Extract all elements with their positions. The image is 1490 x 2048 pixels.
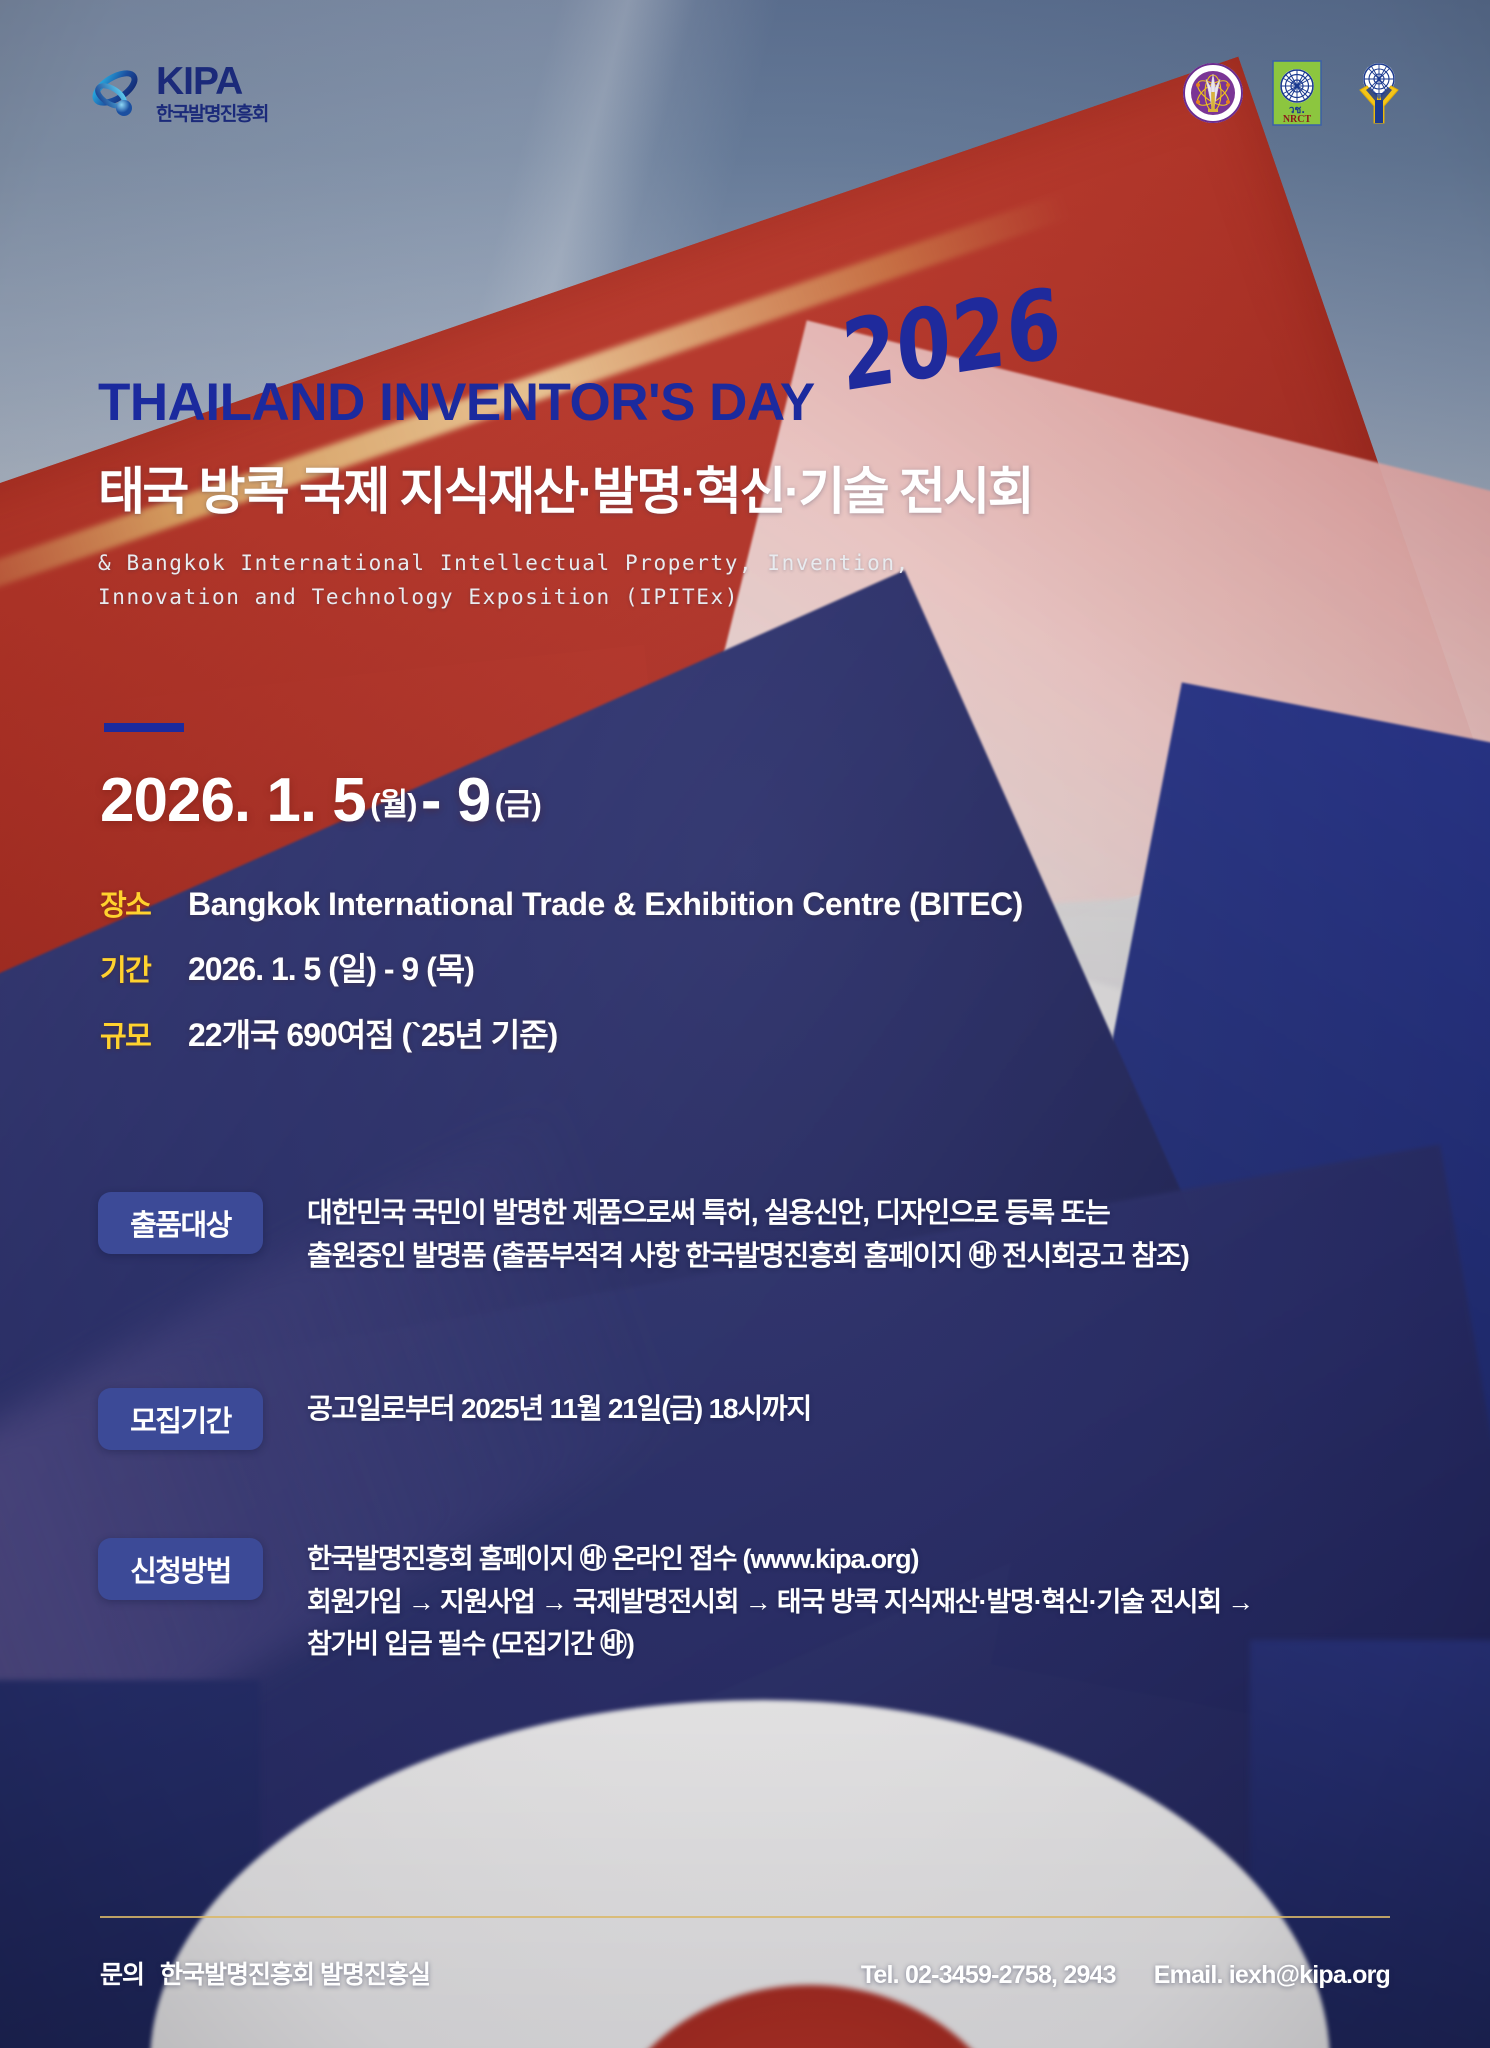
section-line: 출원중인 발명품 (출품부적격 사항 한국발명진흥회 홈페이지 ㉳ 전시회공고 …: [307, 1235, 1189, 1278]
footer-telephone: Tel. 02-3459-2758, 2943: [861, 1961, 1116, 1990]
main-title-english: THAILAND INVENTOR'S DAY: [98, 372, 815, 433]
section-line: 한국발명진흥회 홈페이지 ㉳ 온라인 접수 (www.kipa.org): [307, 1538, 1253, 1581]
ministry-of-higher-education-science-research-innovation-icon: [1182, 62, 1244, 129]
info-value-venue: Bangkok International Trade & Exhibition…: [188, 886, 1023, 923]
footer-contact: 문의 한국발명진흥회 발명진흥실 Tel. 02-3459-2758, 2943…: [100, 1955, 1390, 1991]
footer-organization: 한국발명진흥회 발명진흥실: [160, 1955, 430, 1991]
date-weekday-end: (금): [495, 787, 541, 822]
footer-email: Email. iexh@kipa.org: [1154, 1961, 1390, 1990]
main-title-year: 2026: [839, 266, 1065, 413]
date-range-end: - 9: [421, 766, 490, 835]
subtitle-english: & Bangkok International Intellectual Pro…: [98, 546, 1398, 614]
section-badge-application-period: 모집기간: [98, 1388, 263, 1450]
kipa-logo: KIPA 한국발명진흥회: [84, 62, 268, 124]
thailand-inventors-day-emblem-icon: [1350, 60, 1408, 131]
main-title-korean: 태국 방콕 국제 지식재산·발명·혁신·기술 전시회: [98, 450, 1398, 524]
footer-divider: [100, 1916, 1390, 1918]
kipa-korean-name: 한국발명진흥회: [156, 105, 268, 124]
subtitle-line-1: & Bangkok International Intellectual Pro…: [98, 546, 1398, 580]
section-line: 대한민국 국민이 발명한 제품으로써 특허, 실용신안, 디자인으로 등록 또는: [307, 1192, 1189, 1235]
kipa-wordmark: KIPA: [156, 62, 268, 101]
info-label-scale: 규모: [100, 1013, 188, 1055]
info-row-venue: 장소 Bangkok International Trade & Exhibit…: [100, 882, 1023, 924]
info-row-scale: 규모 22개국 690여점 (`25년 기준): [100, 1010, 1023, 1056]
info-label-venue: 장소: [100, 882, 188, 924]
section-body-eligibility: 대한민국 국민이 발명한 제품으로써 특허, 실용신안, 디자인으로 등록 또는…: [307, 1192, 1189, 1277]
accent-dash-divider: [104, 723, 184, 732]
nrct-logo-icon: วช. NRCT: [1272, 60, 1322, 131]
section-body-how-to-apply: 한국발명진흥회 홈페이지 ㉳ 온라인 접수 (www.kipa.org) 회원가…: [307, 1538, 1253, 1666]
title-block: THAILAND INVENTOR'S DAY 2026 태국 방콕 국제 지식…: [98, 372, 1398, 614]
subtitle-line-2: Innovation and Technology Exposition (IP…: [98, 580, 1398, 614]
section-body-application-period: 공고일로부터 2025년 11월 21일(금) 18시까지: [307, 1388, 811, 1431]
kipa-orbit-icon: [84, 62, 146, 124]
svg-text:NRCT: NRCT: [1283, 114, 1312, 125]
section-eligibility: 출품대상 대한민국 국민이 발명한 제품으로써 특허, 실용신안, 디자인으로 …: [98, 1192, 1189, 1277]
info-label-period: 기간: [100, 947, 188, 989]
section-line: 공고일로부터 2025년 11월 21일(금) 18시까지: [307, 1388, 811, 1431]
info-row-period: 기간 2026. 1. 5 (일) - 9 (목): [100, 944, 1023, 990]
partner-logos: วช. NRCT: [1182, 60, 1408, 131]
date-weekday-start: (월): [370, 787, 416, 822]
section-how-to-apply: 신청방법 한국발명진흥회 홈페이지 ㉳ 온라인 접수 (www.kipa.org…: [98, 1538, 1253, 1666]
section-line: 회원가입 → 지원사업 → 국제발명전시회 → 태국 방콕 지식재산·발명·혁신…: [307, 1581, 1253, 1624]
poster-root: KIPA 한국발명진흥회: [0, 0, 1490, 2048]
section-application-period: 모집기간 공고일로부터 2025년 11월 21일(금) 18시까지: [98, 1388, 811, 1450]
section-badge-eligibility: 출품대상: [98, 1192, 263, 1254]
event-date-headline: 2026. 1. 5 (월) - 9 (금): [100, 765, 541, 836]
info-value-scale: 22개국 690여점 (`25년 기준): [188, 1010, 557, 1056]
section-line: 참가비 입금 필수 (모집기간 ㉳): [307, 1623, 1253, 1666]
section-badge-how-to-apply: 신청방법: [98, 1538, 263, 1600]
info-value-period: 2026. 1. 5 (일) - 9 (목): [188, 944, 474, 990]
event-info-rows: 장소 Bangkok International Trade & Exhibit…: [100, 882, 1023, 1076]
date-range-start: 2026. 1. 5: [100, 766, 366, 835]
footer-label: 문의: [100, 1955, 144, 1991]
